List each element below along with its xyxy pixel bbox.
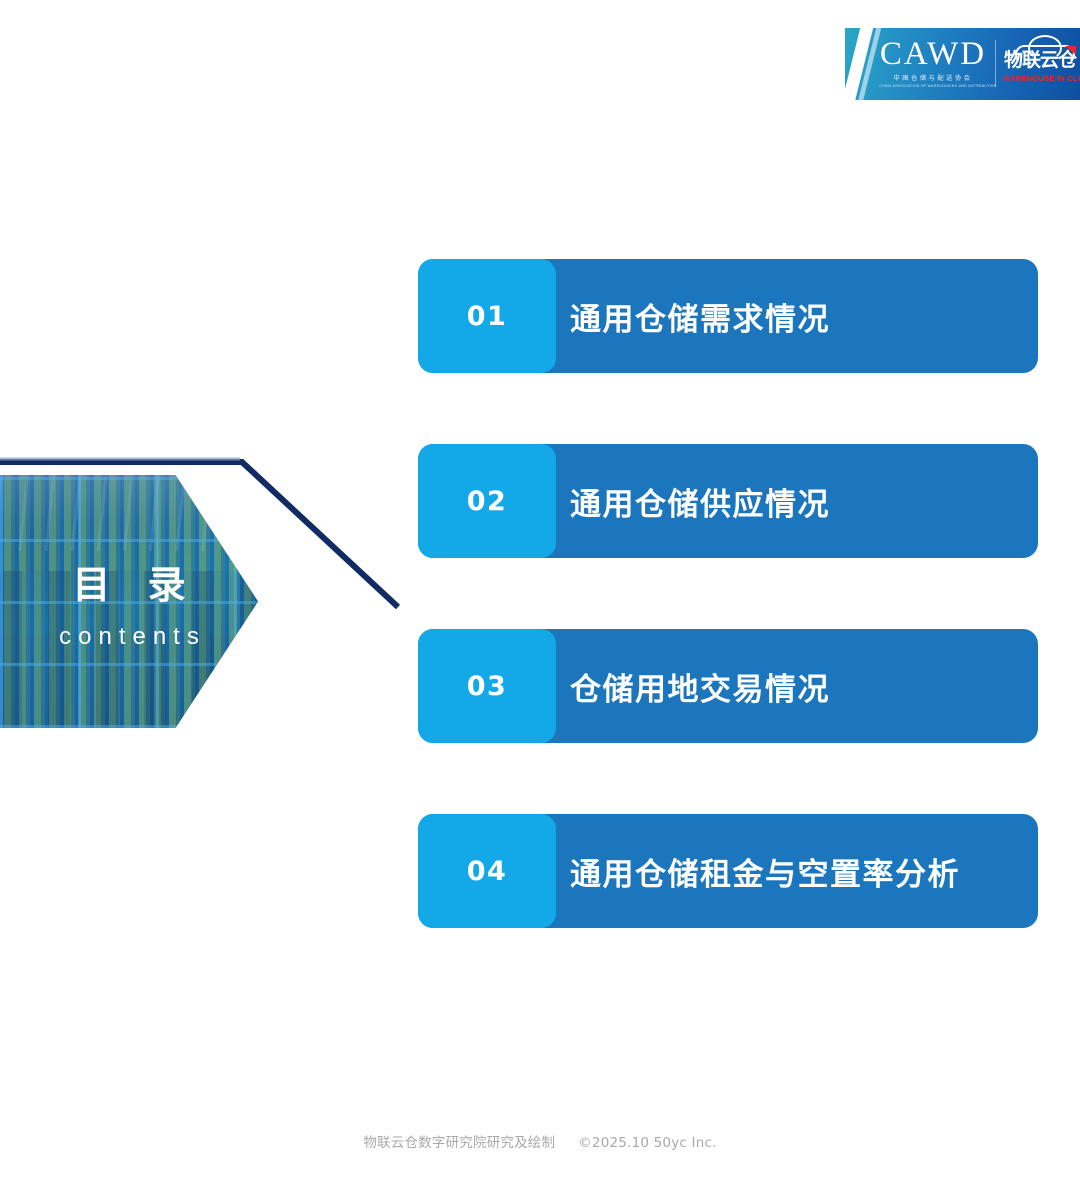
logo-divider <box>995 40 996 86</box>
list-item[interactable]: 02 通用仓储供应情况 <box>418 444 1038 558</box>
item-number-tile: 01 <box>418 259 556 373</box>
contents-art-panel: 目 录 contents <box>0 450 420 750</box>
contents-item-list: 01 通用仓储需求情况 02 通用仓储供应情况 03 仓储用地交易情况 04 通… <box>418 259 1038 928</box>
list-item[interactable]: 01 通用仓储需求情况 <box>418 259 1038 373</box>
contents-title-cn: 目 录 <box>0 561 258 609</box>
contents-title-en: contents <box>0 617 258 657</box>
footer-credit: 物联云仓数字研究院研究及绘制 <box>363 1135 555 1151</box>
item-title: 通用仓储租金与空置率分析 <box>570 814 960 928</box>
cawd-english-name: CHINA ASSOCIATION OF WAREHOUSING AND DIS… <box>879 83 987 90</box>
item-title: 通用仓储需求情况 <box>570 259 830 373</box>
item-title: 通用仓储供应情况 <box>570 444 830 558</box>
contents-heading-group: 目 录 contents <box>0 561 258 657</box>
item-title: 仓储用地交易情况 <box>570 629 830 743</box>
cawd-wordmark: CAWD <box>877 34 989 74</box>
list-item[interactable]: 04 通用仓储租金与空置率分析 <box>418 814 1038 928</box>
cawd-logo: CAWD 中国仓储与配送协会 CHINA ASSOCIATION OF WARE… <box>877 34 989 90</box>
wic-chinese-name: 物联云仓 <box>1004 48 1076 72</box>
header-logo-bar: CAWD 中国仓储与配送协会 CHINA ASSOCIATION OF WARE… <box>845 28 1080 100</box>
pentagon-photo-block: 目 录 contents <box>0 475 258 728</box>
item-number-tile: 03 <box>418 629 556 743</box>
item-number: 02 <box>467 486 508 517</box>
list-item[interactable]: 03 仓储用地交易情况 <box>418 629 1038 743</box>
footer-copyright: ©2025.10 50yc Inc. <box>578 1135 716 1151</box>
item-number-tile: 04 <box>418 814 556 928</box>
cawd-chinese-name: 中国仓储与配送协会 <box>877 74 989 83</box>
wic-english-name: WAREHOUSE IN CLOUD <box>1003 73 1077 84</box>
item-number: 04 <box>467 856 508 887</box>
footer: 物联云仓数字研究院研究及绘制 ©2025.10 50yc Inc. <box>0 1131 1080 1151</box>
item-number: 01 <box>467 301 508 332</box>
wuliangyuncang-logo: 物联云仓 WAREHOUSE IN CLOUD <box>1003 32 1077 96</box>
item-number: 03 <box>467 671 508 702</box>
slide-root: CAWD 中国仓储与配送协会 CHINA ASSOCIATION OF WARE… <box>0 0 1080 1200</box>
item-number-tile: 02 <box>418 444 556 558</box>
